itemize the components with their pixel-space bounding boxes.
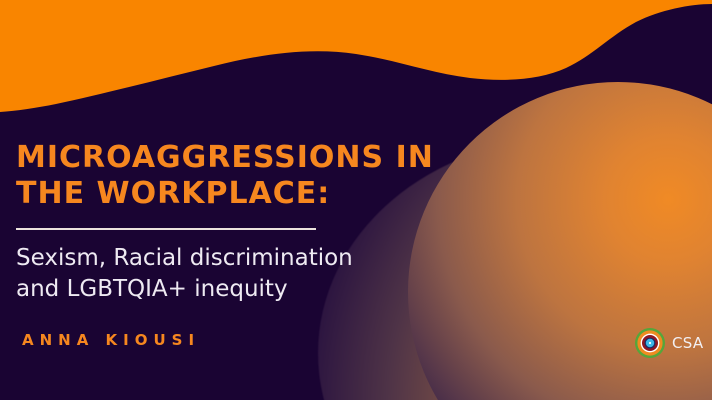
csa-logo: CSA [634,327,703,359]
subtitle-line-1: Sexism, Racial discrimination [16,245,353,271]
logo-text: CSA [672,334,703,352]
title-slide: MICROAGGRESSIONS INTHE WORKPLACE: Sexism… [0,0,712,400]
page-subtitle: Sexism, Racial discriminationand LGBTQIA… [16,243,436,305]
title-line-1: MICROAGGRESSIONS IN [16,140,434,175]
title-divider [16,228,316,230]
subtitle-line-2: and LGBTQIA+ inequity [16,276,288,302]
concentric-target-logo-icon [634,327,666,359]
page-title: MICROAGGRESSIONS INTHE WORKPLACE: [16,140,436,212]
slide-content: MICROAGGRESSIONS INTHE WORKPLACE: Sexism… [0,0,712,400]
title-line-2: THE WORKPLACE: [16,176,330,211]
author-name: ANNA KIOUSI [22,331,200,349]
